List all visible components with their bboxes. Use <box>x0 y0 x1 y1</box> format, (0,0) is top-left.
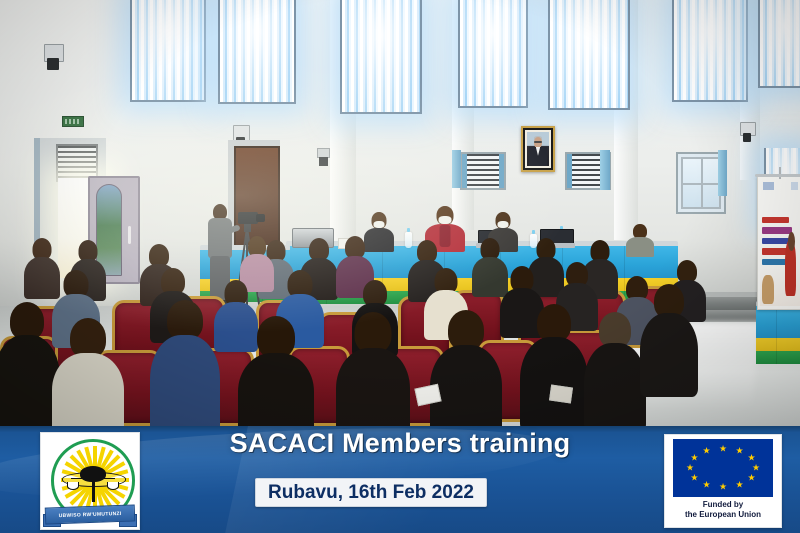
wall-speaker <box>740 122 754 142</box>
eu-caption-line1: Funded by <box>685 500 761 510</box>
audience-member <box>640 284 698 392</box>
screenshot-root: UBWISO RW'UMUTUNZI ★★★★★★★★★★★★ Funded b… <box>0 0 800 533</box>
audience-member <box>336 312 410 426</box>
eu-star: ★ <box>719 483 727 492</box>
side-table <box>756 306 800 364</box>
eu-star: ★ <box>735 447 743 456</box>
upper-window <box>548 0 630 110</box>
event-photograph <box>0 0 800 426</box>
upper-window <box>218 0 296 104</box>
audience-member <box>150 300 220 426</box>
logo-post <box>92 472 95 501</box>
upper-window <box>758 0 800 88</box>
eu-caption: Funded by the European Union <box>685 500 761 520</box>
logo-ribbon-text: UBWISO RW'UMUTUNZI <box>46 505 135 523</box>
logo-scale-arm <box>93 478 115 479</box>
window-drape <box>600 150 610 190</box>
logo-scale-arm <box>71 478 93 479</box>
eu-star: ★ <box>686 464 694 473</box>
eu-star: ★ <box>702 480 710 489</box>
upper-window <box>130 0 206 102</box>
eu-star: ★ <box>702 447 710 456</box>
eu-star: ★ <box>719 444 727 453</box>
rollup-banner <box>757 176 800 310</box>
exit-sign <box>62 116 84 127</box>
lower-louvered-window <box>460 152 506 190</box>
eu-star: ★ <box>748 473 756 482</box>
head-table-person <box>624 224 656 254</box>
upper-window <box>458 0 528 108</box>
eu-flag: ★★★★★★★★★★★★ <box>673 439 773 497</box>
audience-member <box>0 302 60 426</box>
wall-portrait <box>521 126 555 172</box>
handout-paper <box>549 385 573 404</box>
eu-star: ★ <box>690 473 698 482</box>
upper-window <box>672 0 748 102</box>
eu-caption-line2: the European Union <box>685 510 761 520</box>
european-union-funding-logo: ★★★★★★★★★★★★ Funded by the European Unio… <box>664 434 782 528</box>
audience-member <box>520 304 588 426</box>
banner-subtitle: Rubavu, 16th Feb 2022 <box>268 482 474 504</box>
logo-scale-pan <box>107 482 119 490</box>
eu-star: ★ <box>735 480 743 489</box>
audience-member <box>430 310 502 426</box>
eu-star: ★ <box>690 454 698 463</box>
audience-member <box>238 316 314 426</box>
wall-sconce <box>317 148 330 158</box>
audience-member <box>584 312 646 426</box>
logo-ribbon: UBWISO RW'UMUTUNZI <box>45 504 136 524</box>
window-drape <box>718 150 727 196</box>
banner-title: SACACI Members training <box>150 428 650 459</box>
sacaci-logo: UBWISO RW'UMUTUNZI <box>40 432 140 530</box>
window-drape <box>452 150 461 188</box>
audience-member <box>52 318 124 426</box>
banner-subtitle-box: Rubavu, 16th Feb 2022 <box>255 478 487 507</box>
wall-speaker <box>44 44 62 70</box>
upper-window <box>340 0 422 114</box>
